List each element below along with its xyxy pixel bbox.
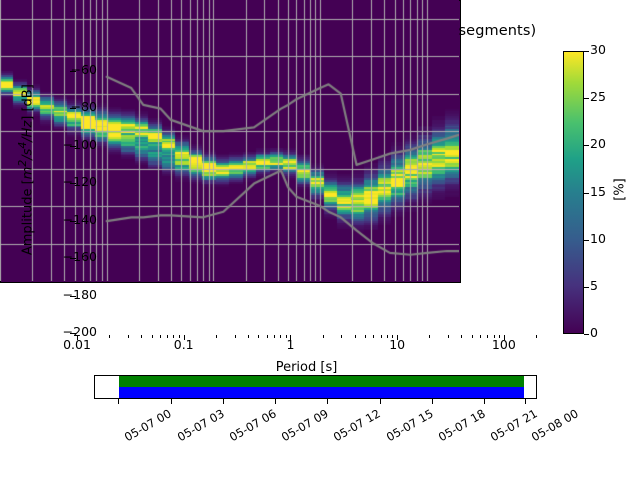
x-tick-mark-minor: [128, 335, 129, 338]
y-tick-label: −60: [37, 64, 97, 77]
time-tick-mark: [525, 399, 526, 404]
time-tick-mark: [432, 399, 433, 404]
x-tick-mark-minor: [387, 335, 388, 338]
x-tick-mark-minor: [280, 335, 281, 338]
y-tick-mark: [70, 333, 76, 334]
x-tick-mark-minor: [472, 335, 473, 338]
y-tick-mark: [70, 296, 76, 297]
x-tick-label: 1: [260, 339, 320, 352]
colorbar-tick-label: 5: [590, 280, 598, 293]
colorbar-tick-mark: [584, 287, 589, 288]
time-tick-label: 05-07 06: [228, 408, 279, 444]
x-tick-mark-minor: [109, 335, 110, 338]
colorbar-tick-mark: [584, 145, 589, 146]
y-tick-mark: [70, 221, 76, 222]
x-tick-mark-minor: [248, 335, 249, 338]
x-tick-label: 10: [367, 339, 427, 352]
x-tick-mark-minor: [480, 335, 481, 338]
x-tick-mark-minor: [373, 335, 374, 338]
y-axis-label-suffix: ] [dB]: [21, 84, 36, 121]
y-tick-mark: [70, 108, 76, 109]
x-tick-mark-minor: [536, 335, 537, 338]
time-tick-label: 05-07 03: [176, 408, 227, 444]
colorbar-tick-label: 0: [590, 327, 598, 340]
x-tick-mark-minor: [355, 335, 356, 338]
x-tick-mark-minor: [274, 335, 275, 338]
time-tick-mark: [380, 399, 381, 404]
time-tick-label: 05-07 00: [123, 408, 174, 444]
y-tick-label: −120: [37, 176, 97, 189]
colorbar-tick-label: 15: [590, 186, 606, 199]
x-tick-label: 0.1: [154, 339, 214, 352]
time-tick-mark: [484, 399, 485, 404]
x-tick-mark-minor: [461, 335, 462, 338]
x-tick-mark-minor: [448, 335, 449, 338]
colorbar-tick-mark: [584, 240, 589, 241]
x-tick-mark-minor: [381, 335, 382, 338]
colorbar: [563, 51, 584, 334]
colorbar-tick-label: 30: [590, 44, 606, 57]
time-tick-mark: [171, 399, 172, 404]
x-tick-mark-minor: [216, 335, 217, 338]
y-tick-label: −160: [37, 251, 97, 264]
y-tick-mark: [70, 258, 76, 259]
x-tick-mark-minor: [167, 335, 168, 338]
x-axis-label: Period [s]: [76, 360, 537, 375]
data-coverage-bar: [94, 375, 537, 399]
time-tick-label: 05-07 12: [332, 408, 383, 444]
coverage-segment-lower: [119, 387, 523, 398]
time-tick-label: 05-07 15: [385, 408, 436, 444]
y-tick-label: −180: [37, 289, 97, 302]
x-tick-mark-minor: [341, 335, 342, 338]
time-tick-label: 05-07 09: [280, 408, 331, 444]
time-tick-mark: [275, 399, 276, 404]
colorbar-tick-label: 10: [590, 233, 606, 246]
time-tick-label: 05-07 18: [437, 408, 488, 444]
x-tick-label: 100: [474, 339, 534, 352]
y-tick-mark: [70, 146, 76, 147]
y-tick-label: −100: [37, 139, 97, 152]
colorbar-tick-mark: [584, 193, 589, 194]
time-tick-mark: [223, 399, 224, 404]
time-tick-mark: [327, 399, 328, 404]
colorbar-tick-mark: [584, 334, 589, 335]
y-axis-label-prefix: Amplitude [: [21, 179, 36, 255]
x-tick-mark-minor: [235, 335, 236, 338]
x-tick-mark-minor: [141, 335, 142, 338]
colorbar-tick-mark: [584, 98, 589, 99]
y-tick-label: −80: [37, 101, 97, 114]
colorbar-tick-label: 20: [590, 138, 606, 151]
y-tick-mark: [70, 183, 76, 184]
y-axis-label-math: m2/s4/Hz: [21, 121, 36, 180]
x-tick-mark-minor: [258, 335, 259, 338]
coverage-segment-upper: [119, 376, 523, 387]
colorbar-label: [%]: [613, 130, 628, 250]
time-tick-mark: [118, 399, 119, 404]
x-tick-mark-minor: [152, 335, 153, 338]
x-tick-mark-minor: [267, 335, 268, 338]
x-tick-mark-minor: [323, 335, 324, 338]
y-axis-label: Amplitude [m2/s4/Hz] [dB]: [16, 40, 35, 300]
x-tick-mark-minor: [365, 335, 366, 338]
colorbar-tick-mark: [584, 51, 589, 52]
y-tick-label: −140: [37, 214, 97, 227]
x-tick-mark-minor: [429, 335, 430, 338]
x-tick-mark-minor: [160, 335, 161, 338]
colorbar-tick-label: 25: [590, 91, 606, 104]
x-tick-mark-minor: [487, 335, 488, 338]
y-tick-mark: [70, 71, 76, 72]
x-tick-label: 0.01: [47, 339, 107, 352]
